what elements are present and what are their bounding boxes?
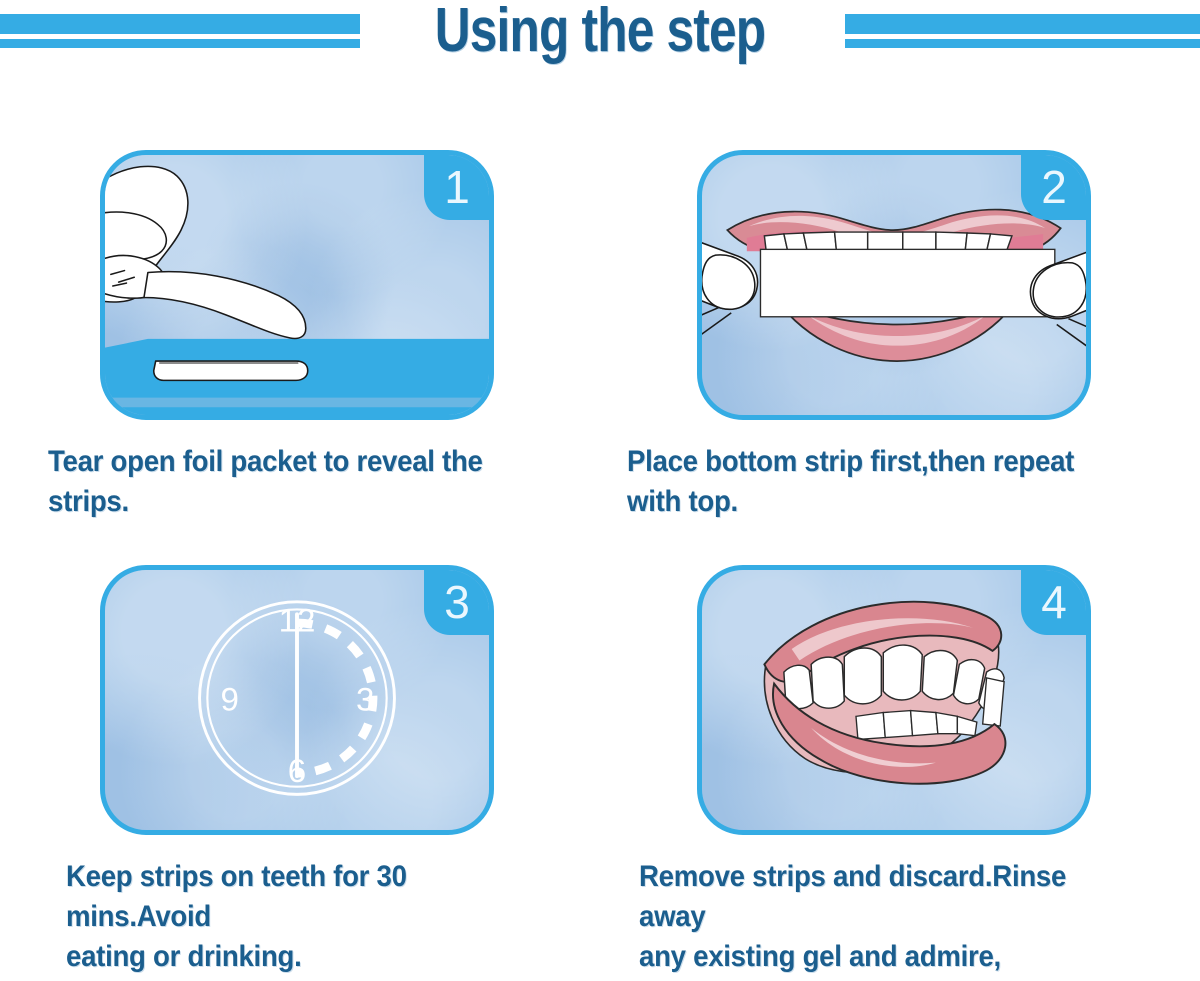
steps-grid: 1 Tear open foil packet to reveal the st… [0,150,1200,981]
step-2-illustration-panel: 2 [697,150,1091,420]
step-card-3: 12 3 6 9 3 Keep strips on teeth for 30 m… [78,565,578,977]
clock-numeral-6: 6 [288,752,306,789]
clock-numeral-9: 9 [221,681,239,718]
page-header: Using the step [0,0,1200,78]
page-title: Using the step [120,0,1080,66]
step-caption-2: Place bottom strip first,then repeat wit… [627,442,1131,522]
step-caption-3: Keep strips on teeth for 30 mins.Avoid e… [66,857,537,977]
clock-numeral-3: 3 [356,681,374,718]
step-card-1: 1 Tear open foil packet to reveal the st… [78,150,578,522]
step-card-4: 4 Remove strips and discard.Rinse away a… [675,565,1175,977]
step-4-illustration-panel: 4 [697,565,1091,835]
step-3-illustration-panel: 12 3 6 9 3 [100,565,494,835]
step-caption-4: Remove strips and discard.Rinse away any… [639,857,1132,977]
clock-numeral-12: 12 [279,602,316,639]
step-1-illustration-panel: 1 [100,150,494,420]
step-card-2: 2 Place bottom strip first,then repeat w… [675,150,1175,522]
step-caption-1: Tear open foil packet to reveal the stri… [48,442,536,522]
